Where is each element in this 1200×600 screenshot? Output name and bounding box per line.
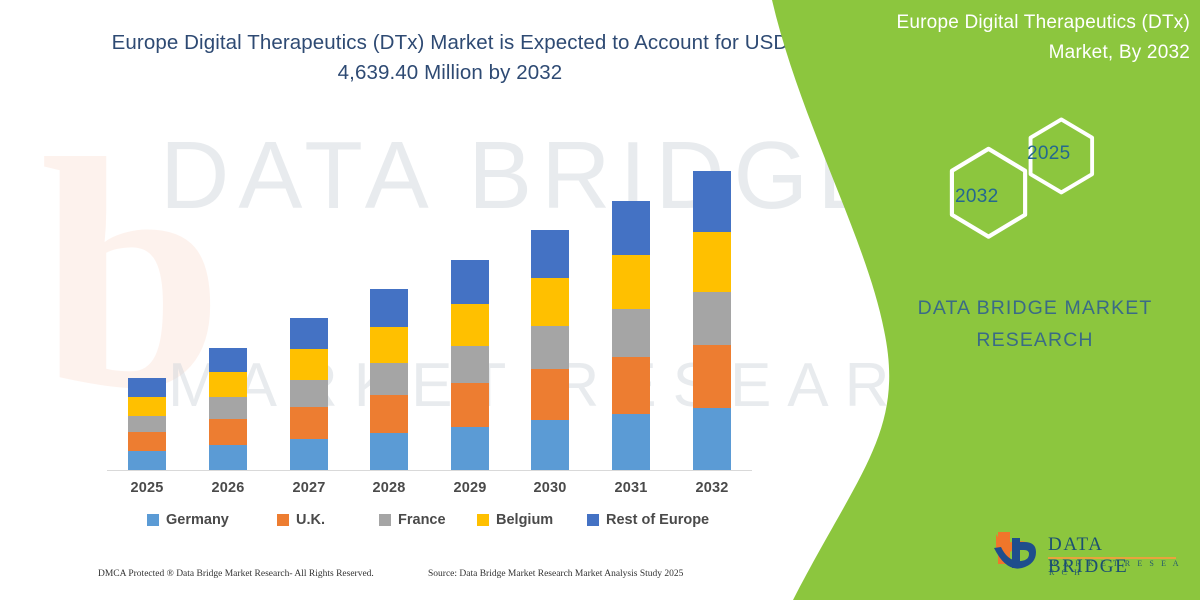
bar-segment-u-k--2032 [693, 345, 731, 408]
bar-segment-rest-of-europe-2027 [290, 318, 328, 349]
legend-item-france[interactable]: France [379, 512, 446, 528]
bar-segment-rest-of-europe-2025 [128, 378, 166, 397]
bar-segment-u-k--2028 [370, 395, 408, 433]
bar-segment-france-2030 [531, 326, 569, 369]
legend-label: Belgium [496, 512, 553, 528]
legend-swatch-icon [277, 514, 289, 526]
bar-segment-france-2025 [128, 416, 166, 432]
bar-segment-u-k--2030 [531, 369, 569, 420]
bar-segment-germany-2032 [693, 408, 731, 470]
bar-segment-u-k--2029 [451, 383, 489, 427]
logo-tagline: M A R K E T R E S E A R C H [1049, 559, 1188, 577]
x-axis-label-2032: 2032 [677, 480, 747, 496]
bar-segment-germany-2026 [209, 445, 247, 470]
footer-source: Source: Data Bridge Market Research Mark… [428, 569, 683, 579]
legend-item-u-k-[interactable]: U.K. [277, 512, 325, 528]
hexagon-2032-label: 2032 [955, 186, 998, 208]
bar-group-2028 [370, 289, 408, 470]
bar-segment-belgium-2028 [370, 327, 408, 363]
bar-segment-belgium-2030 [531, 278, 569, 326]
bar-segment-germany-2030 [531, 420, 569, 470]
x-axis-label-2028: 2028 [354, 480, 424, 496]
legend-label: Germany [166, 512, 229, 528]
bar-segment-u-k--2026 [209, 419, 247, 445]
logo-mark-icon [988, 528, 1044, 578]
legend-swatch-icon [587, 514, 599, 526]
x-axis-line [107, 470, 752, 471]
footer-copyright: DMCA Protected ® Data Bridge Market Rese… [98, 569, 374, 579]
page-title: Europe Digital Therapeutics (DTx) Market… [70, 28, 830, 88]
legend-label: U.K. [296, 512, 325, 528]
x-axis-label-2026: 2026 [193, 480, 263, 496]
legend-label: Rest of Europe [606, 512, 709, 528]
x-axis-labels: 20252026202720282029203020312032 [107, 480, 752, 502]
hexagon-2025-label: 2025 [1027, 143, 1070, 165]
bar-segment-rest-of-europe-2032 [693, 171, 731, 232]
bar-segment-belgium-2026 [209, 372, 247, 397]
infographic-root: b DATA BRIDGE MARKET RESEARCH Europe Dig… [0, 0, 1200, 600]
bar-segment-belgium-2031 [612, 255, 650, 309]
bar-segment-u-k--2031 [612, 357, 650, 414]
bar-segment-france-2029 [451, 346, 489, 383]
legend-item-germany[interactable]: Germany [147, 512, 229, 528]
bar-segment-france-2031 [612, 309, 650, 357]
bar-segment-belgium-2027 [290, 349, 328, 380]
bar-group-2030 [531, 230, 569, 470]
bar-segment-u-k--2027 [290, 407, 328, 439]
x-axis-label-2025: 2025 [112, 480, 182, 496]
brand-line-2: RESEARCH [976, 329, 1093, 351]
brand-line-1: DATA BRIDGE MARKET [918, 297, 1153, 319]
legend-swatch-icon [147, 514, 159, 526]
bar-segment-france-2027 [290, 380, 328, 407]
bar-segment-france-2032 [693, 292, 731, 345]
legend-item-rest-of-europe[interactable]: Rest of Europe [587, 512, 709, 528]
x-axis-label-2027: 2027 [274, 480, 344, 496]
legend-swatch-icon [477, 514, 489, 526]
bar-segment-france-2028 [370, 363, 408, 395]
chart-legend: GermanyU.K.FranceBelgiumRest of Europe [107, 512, 752, 536]
bar-segment-belgium-2025 [128, 397, 166, 416]
company-logo: DATA BRIDGE M A R K E T R E S E A R C H [988, 528, 1188, 584]
bar-segment-germany-2027 [290, 439, 328, 470]
legend-label: France [398, 512, 446, 528]
bar-group-2029 [451, 260, 489, 470]
x-axis-label-2031: 2031 [596, 480, 666, 496]
bar-segment-rest-of-europe-2026 [209, 348, 247, 372]
bar-segment-belgium-2029 [451, 304, 489, 346]
hexagon-pair: 2032 2025 [930, 110, 1110, 240]
panel-title: Europe Digital Therapeutics (DTx) Market… [860, 8, 1190, 68]
x-axis-label-2030: 2030 [515, 480, 585, 496]
bar-segment-germany-2029 [451, 427, 489, 470]
bar-group-2026 [209, 348, 247, 470]
bar-segment-rest-of-europe-2028 [370, 289, 408, 327]
x-axis-label-2029: 2029 [435, 480, 505, 496]
bar-segment-germany-2028 [370, 433, 408, 470]
bar-group-2027 [290, 318, 328, 470]
bar-group-2032 [693, 171, 731, 470]
legend-item-belgium[interactable]: Belgium [477, 512, 553, 528]
bar-segment-germany-2031 [612, 414, 650, 470]
stacked-bar-chart [107, 150, 752, 470]
bar-segment-rest-of-europe-2030 [531, 230, 569, 278]
bar-group-2025 [128, 378, 166, 470]
bar-segment-u-k--2025 [128, 432, 166, 451]
bar-segment-rest-of-europe-2031 [612, 201, 650, 255]
bar-segment-belgium-2032 [693, 232, 731, 292]
legend-swatch-icon [379, 514, 391, 526]
bar-segment-france-2026 [209, 397, 247, 419]
bar-segment-rest-of-europe-2029 [451, 260, 489, 304]
bar-group-2031 [612, 201, 650, 470]
bar-segment-germany-2025 [128, 451, 166, 470]
brand-heading: DATA BRIDGE MARKET RESEARCH [880, 292, 1190, 356]
